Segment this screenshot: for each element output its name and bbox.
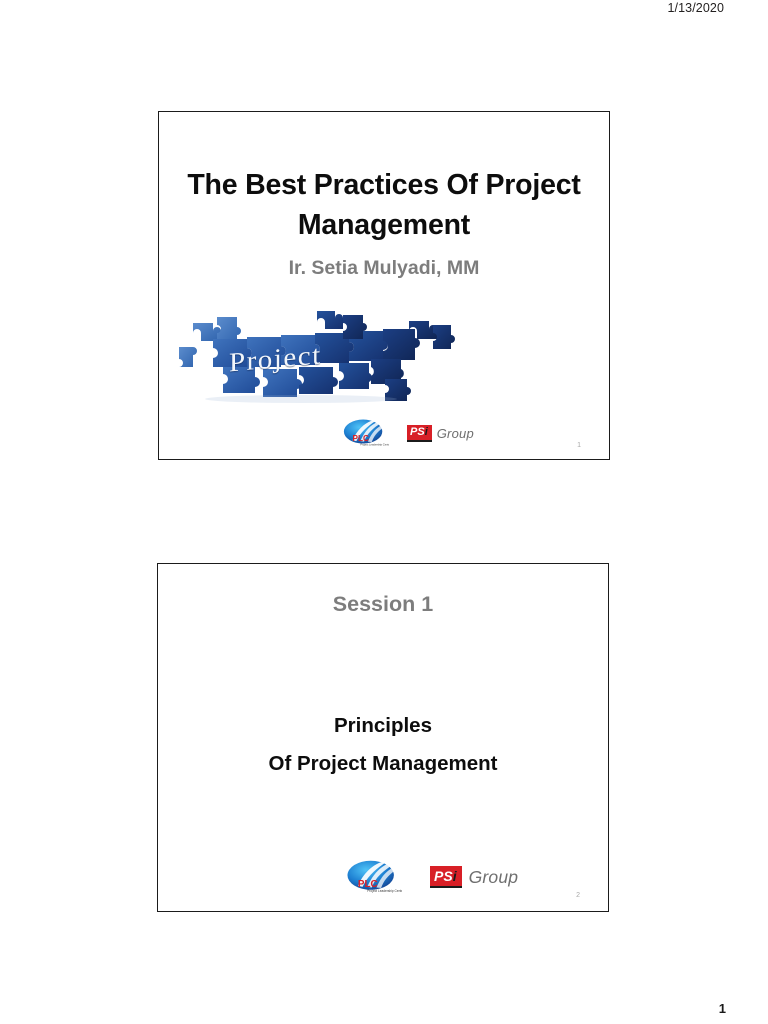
psi-group-label: Group: [437, 426, 474, 441]
slide-2-body: Principles Of Project Management: [172, 707, 594, 783]
psi-mark: PSi: [430, 866, 462, 888]
slide-1-logo-bar: PLC Project Leadership Center PSi Group: [341, 418, 474, 448]
slide-2-session-label: Session 1: [172, 592, 594, 617]
slide-1-frame: The Best Practices Of Project Management…: [158, 111, 610, 460]
slide-1-number: 1: [577, 442, 581, 449]
svg-text:Project Leadership Center: Project Leadership Center: [360, 442, 389, 446]
slide-2-number: 2: [576, 892, 580, 899]
svg-text:Project Leadership Center: Project Leadership Center: [367, 889, 402, 893]
project-puzzle-image: Project: [171, 299, 481, 404]
svg-text:PLC: PLC: [358, 879, 378, 890]
plc-globe-logo: PLC Project Leadership Center: [341, 418, 389, 448]
psi-group-logo: PSi Group: [430, 866, 518, 888]
slide-2-frame: Session 1 Principles Of Project Manageme…: [157, 563, 609, 912]
psi-group-logo: PSi Group: [407, 425, 474, 442]
psi-mark: PSi: [407, 425, 432, 442]
psi-group-label: Group: [469, 867, 519, 888]
page-number: 1: [719, 1001, 726, 1016]
psi-mark-ps: PS: [434, 868, 453, 884]
slide-1-title: The Best Practices Of Project Management: [173, 165, 595, 246]
slide-1-subtitle: Ir. Setia Mulyadi, MM: [173, 257, 595, 280]
slide-2-body-line-2: Of Project Management: [172, 745, 594, 783]
slide-2-body-line-1: Principles: [172, 707, 594, 745]
slide-2-logo-bar: PLC Project Leadership Center PSi Group: [344, 859, 518, 895]
svg-text:PLC: PLC: [353, 434, 369, 443]
psi-mark-i: i: [453, 868, 457, 884]
psi-mark-ps: PS: [410, 426, 425, 438]
plc-globe-logo: PLC Project Leadership Center: [344, 859, 402, 895]
psi-mark-i: i: [425, 426, 428, 438]
page-date: 1/13/2020: [667, 1, 724, 15]
